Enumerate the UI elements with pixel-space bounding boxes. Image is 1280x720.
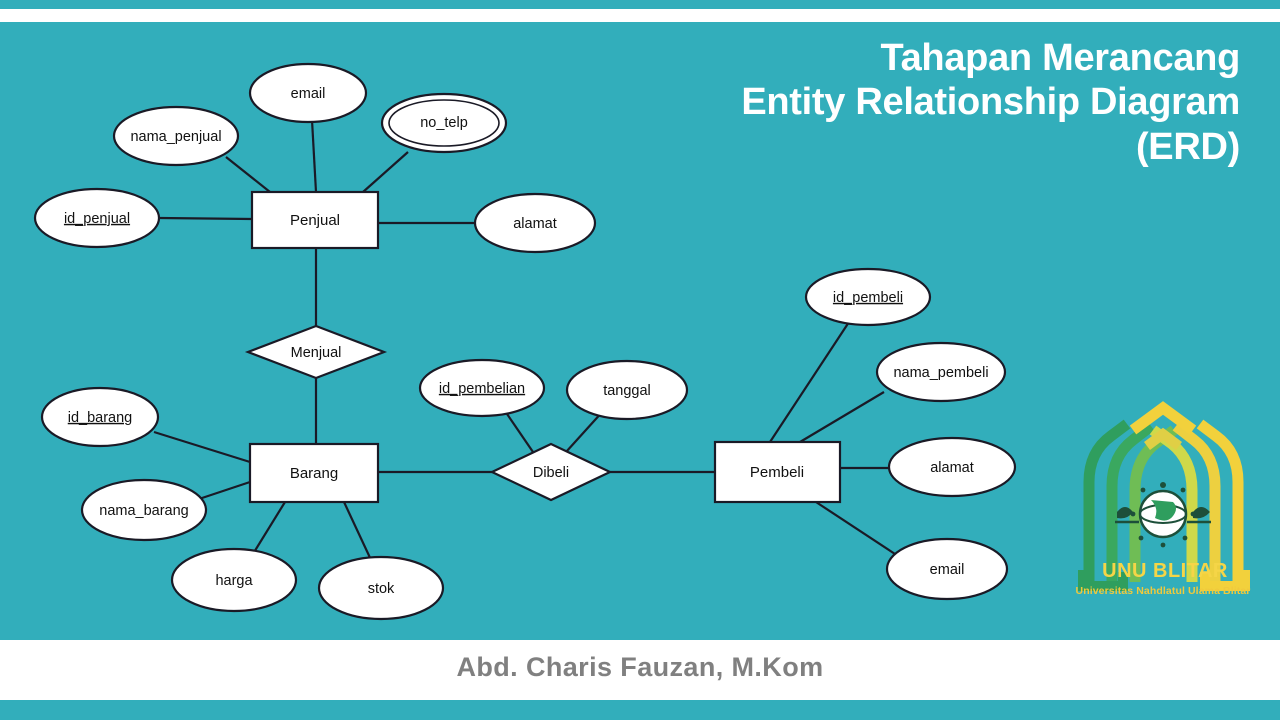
- unu-blitar-logo: UNU BLITAR Universitas Nahdlatul Ulama B…: [1055, 390, 1270, 602]
- link-id-pembelian: [505, 411, 533, 452]
- entity-pembeli[interactable]: Pembeli: [715, 442, 840, 502]
- attribute-nama-barang-label: nama_barang: [99, 503, 189, 519]
- link-stok: [344, 502, 372, 562]
- attribute-email-pembeli-label: email: [930, 562, 965, 578]
- slide-canvas: Penjual Barang Pembeli Menjual Dibeli id…: [0, 0, 1280, 720]
- attribute-email-penjual[interactable]: email: [250, 64, 366, 122]
- attribute-tanggal-label: tanggal: [603, 383, 651, 399]
- presenter-name: Abd. Charis Fauzan, M.Kom: [0, 652, 1280, 683]
- attribute-harga-label: harga: [215, 573, 253, 589]
- attribute-no-telp-label: no_telp: [420, 115, 468, 131]
- attribute-id-pembelian[interactable]: id_pembelian: [420, 360, 544, 416]
- link-nama-penjual: [226, 157, 270, 192]
- link-email-pembeli: [816, 502, 898, 556]
- entity-penjual[interactable]: Penjual: [252, 192, 378, 248]
- attribute-nama-penjual-label: nama_penjual: [130, 129, 221, 145]
- attribute-alamat-penjual[interactable]: alamat: [475, 194, 595, 252]
- entity-penjual-label: Penjual: [290, 212, 340, 229]
- attribute-nama-barang[interactable]: nama_barang: [82, 480, 206, 540]
- logo-star-top: [1160, 482, 1166, 488]
- relationship-dibeli[interactable]: Dibeli: [492, 444, 610, 500]
- entity-barang[interactable]: Barang: [250, 444, 378, 502]
- attribute-alamat-penjual-label: alamat: [513, 216, 557, 232]
- attribute-stok-label: stok: [368, 581, 395, 597]
- bottom-teal-band: [0, 700, 1280, 720]
- attribute-id-penjual[interactable]: id_penjual: [35, 189, 159, 247]
- logo-knot-top: [1133, 408, 1193, 430]
- link-email-penjual: [312, 120, 316, 192]
- relationship-dibeli-label: Dibeli: [533, 465, 569, 481]
- attribute-nama-penjual[interactable]: nama_penjual: [114, 107, 238, 165]
- link-nama-barang: [196, 482, 250, 500]
- attribute-id-pembelian-label: id_pembelian: [439, 381, 525, 397]
- attribute-id-barang-label: id_barang: [68, 410, 133, 426]
- attribute-email-pembeli[interactable]: email: [887, 539, 1007, 599]
- attribute-alamat-pembeli-label: alamat: [930, 460, 974, 476]
- attribute-stok[interactable]: stok: [319, 557, 443, 619]
- attribute-harga[interactable]: harga: [172, 549, 296, 611]
- page-title: Tahapan Merancang Entity Relationship Di…: [520, 36, 1240, 169]
- entity-pembeli-label: Pembeli: [750, 464, 804, 481]
- logo-star-a: [1141, 488, 1146, 493]
- attribute-alamat-pembeli[interactable]: alamat: [889, 438, 1015, 496]
- link-no-telp: [363, 152, 408, 192]
- attribute-tanggal[interactable]: tanggal: [567, 361, 687, 419]
- logo-star-f: [1183, 536, 1188, 541]
- page-title-line-3: (ERD): [520, 125, 1240, 169]
- link-id-barang: [154, 432, 250, 462]
- page-title-line-2: Entity Relationship Diagram: [520, 80, 1240, 124]
- attribute-no-telp[interactable]: no_telp: [382, 94, 506, 152]
- attribute-nama-pembeli-label: nama_pembeli: [893, 365, 988, 381]
- attribute-id-barang[interactable]: id_barang: [42, 388, 158, 446]
- logo-star-g: [1161, 543, 1166, 548]
- entity-barang-label: Barang: [290, 465, 338, 482]
- attribute-id-pembeli[interactable]: id_pembeli: [806, 269, 930, 325]
- link-nama-pembeli: [800, 392, 884, 442]
- page-title-line-1: Tahapan Merancang: [520, 36, 1240, 80]
- attribute-email-penjual-label: email: [291, 86, 326, 102]
- attribute-id-penjual-label: id_penjual: [64, 211, 130, 227]
- relationship-menjual[interactable]: Menjual: [248, 326, 384, 378]
- relationship-menjual-label: Menjual: [291, 345, 342, 361]
- logo-name-main: UNU BLITAR: [1102, 560, 1228, 582]
- logo-star-b: [1181, 488, 1186, 493]
- link-id-penjual: [160, 218, 252, 219]
- link-id-pembeli: [770, 322, 849, 442]
- logo-star-e: [1139, 536, 1144, 541]
- logo-name-sub: Universitas Nahdlatul Ulama Blitar: [1076, 585, 1251, 597]
- attribute-nama-pembeli[interactable]: nama_pembeli: [877, 343, 1005, 401]
- attribute-id-pembeli-label: id_pembeli: [833, 290, 903, 306]
